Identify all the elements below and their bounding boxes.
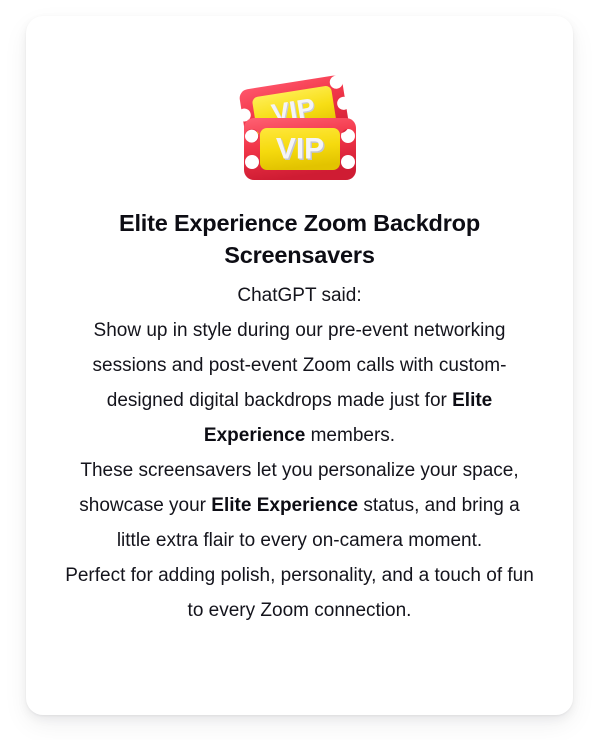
vip-tickets-icon: VIP VIP VIP VIP: [234, 74, 366, 186]
attribution-label: ChatGPT said:: [60, 278, 539, 313]
vip-tickets-icon-wrapper: VIP VIP VIP VIP: [60, 72, 539, 188]
emphasis-text: Elite Experience: [211, 495, 358, 516]
paragraph-2: These screensavers let you personalize y…: [60, 453, 539, 558]
paragraph-1: Show up in style during our pre-event ne…: [60, 313, 539, 453]
body-text-container: Show up in style during our pre-event ne…: [60, 313, 539, 628]
vip-ticket-front-label: VIP: [275, 133, 323, 166]
paragraph-3: Perfect for adding polish, personality, …: [60, 558, 539, 628]
content-card: VIP VIP VIP VIP Elite Experience Zoom Ba…: [26, 16, 573, 715]
page-background: VIP VIP VIP VIP Elite Experience Zoom Ba…: [0, 0, 600, 740]
card-content: VIP VIP VIP VIP Elite Experience Zoom Ba…: [26, 16, 573, 628]
vip-ticket-front: VIP VIP: [244, 118, 356, 180]
body-text: Perfect for adding polish, personality, …: [65, 565, 534, 621]
body-text: members.: [305, 425, 395, 446]
page-title: Elite Experience Zoom Backdrop Screensav…: [60, 208, 539, 272]
body-text: Show up in style during our pre-event ne…: [93, 320, 507, 411]
